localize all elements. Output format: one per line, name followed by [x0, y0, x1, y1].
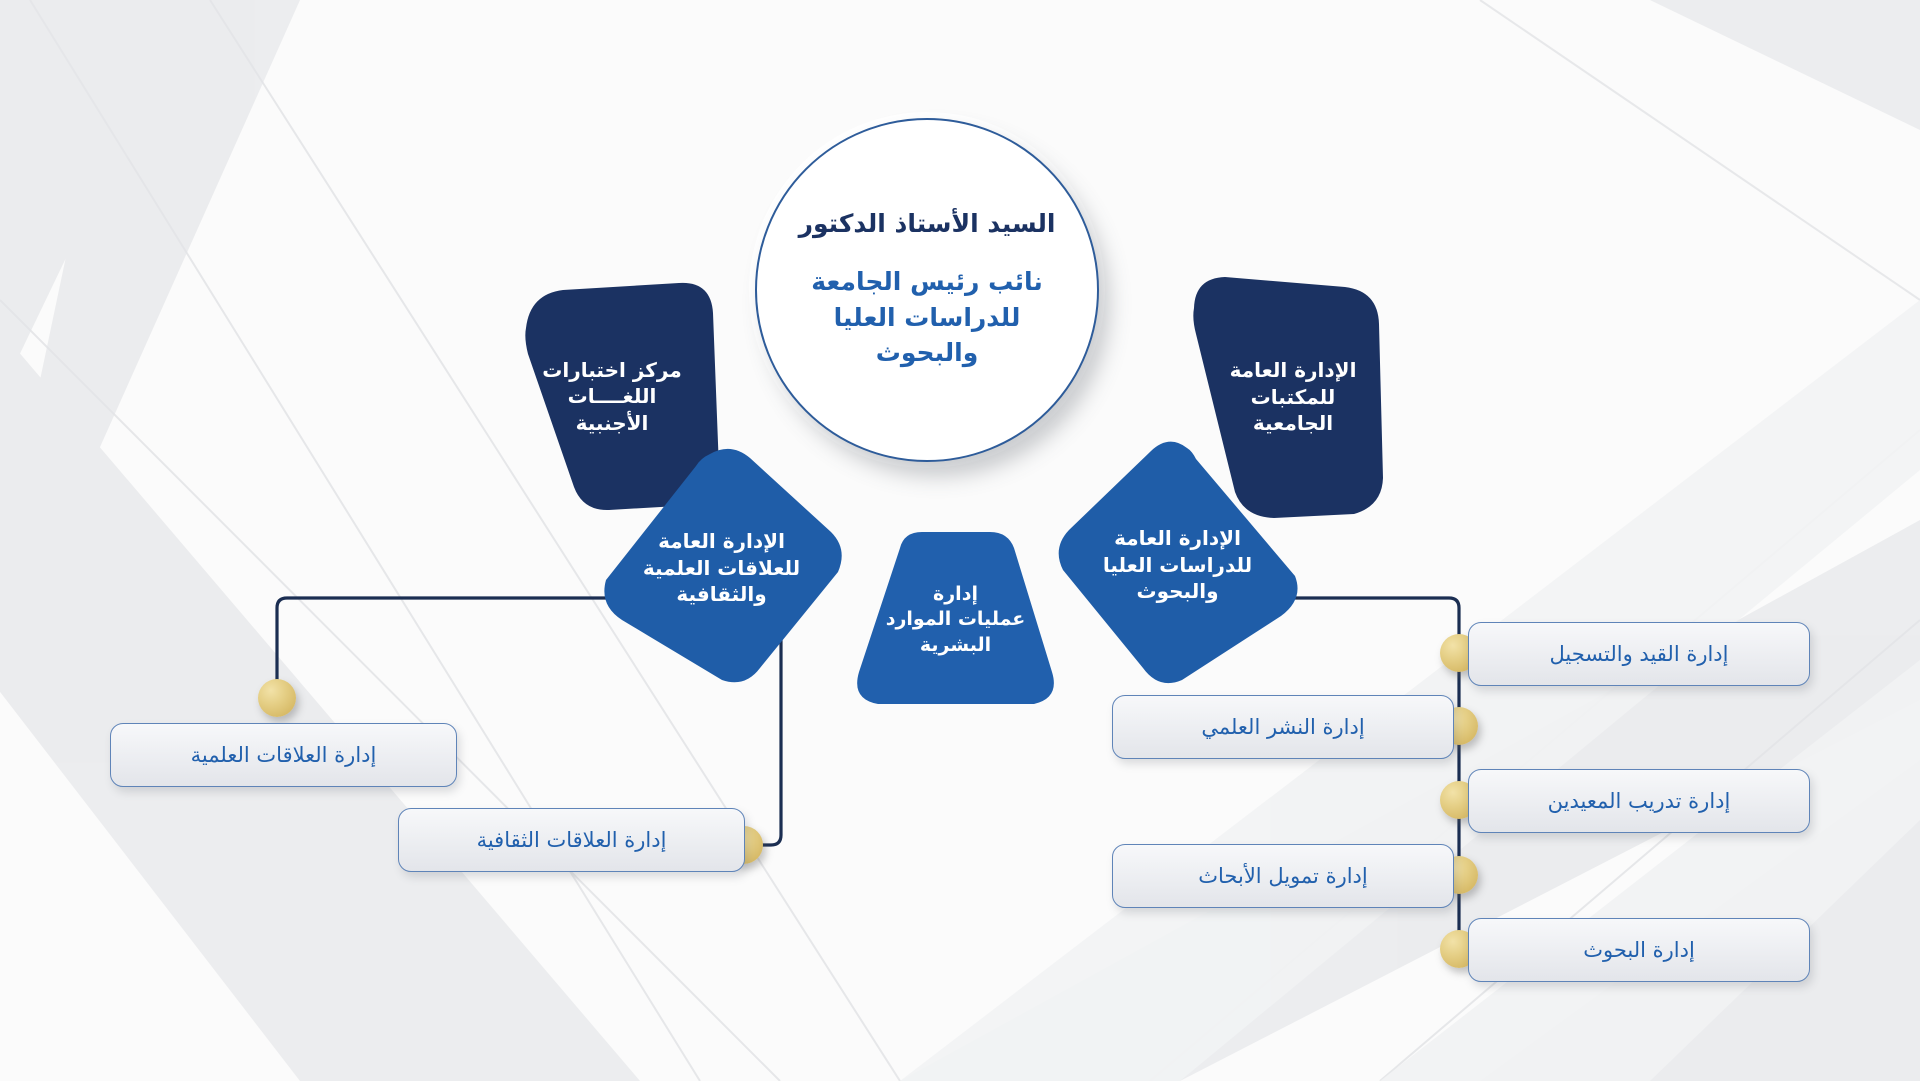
- list-item-teaching-assistants-training-dept[interactable]: إدارة تدريب المعيدين: [1468, 769, 1810, 833]
- list-item-scientific-relations-dept[interactable]: إدارة العلاقات العلمية: [110, 723, 457, 787]
- center-node-role: نائب رئيس الجامعة للدراسات العليا والبحو…: [811, 264, 1042, 371]
- branch-shape: [600, 448, 843, 688]
- branch-human-resources-operations-administration[interactable]: إدارة عمليات الموارد البشرية: [838, 530, 1073, 710]
- list-item-label: إدارة البحوث: [1583, 938, 1695, 962]
- list-item-enrollment-registration-dept[interactable]: إدارة القيد والتسجيل: [1468, 622, 1810, 686]
- center-node[interactable]: السيد الأستاذ الدكتور نائب رئيس الجامعة …: [755, 118, 1099, 462]
- list-item-label: إدارة العلاقات العلمية: [191, 743, 377, 767]
- list-item-label: إدارة تمويل الأبحاث: [1198, 864, 1367, 888]
- list-item-cultural-relations-dept[interactable]: إدارة العلاقات الثقافية: [398, 808, 745, 872]
- branch-shape: [838, 530, 1073, 710]
- branch-graduate-studies-research-administration[interactable]: الإدارة العامة للدراسات العليا والبحوث: [1055, 440, 1300, 690]
- center-node-title: السيد الأستاذ الدكتور: [799, 209, 1056, 238]
- list-item-research-dept[interactable]: إدارة البحوث: [1468, 918, 1810, 982]
- branch-shape: [1055, 440, 1300, 690]
- branch-scientific-cultural-relations-administration[interactable]: الإدارة العامة للعلاقات العلمية والثقافي…: [600, 448, 843, 688]
- list-item-research-funding-dept[interactable]: إدارة تمويل الأبحاث: [1112, 844, 1454, 908]
- connector-dot-left-1: [258, 679, 296, 717]
- list-item-label: إدارة تدريب المعيدين: [1548, 789, 1731, 813]
- list-item-label: إدارة النشر العلمي: [1201, 715, 1364, 739]
- list-item-label: إدارة القيد والتسجيل: [1550, 642, 1729, 666]
- list-item-label: إدارة العلاقات الثقافية: [477, 828, 667, 852]
- list-item-scientific-publishing-dept[interactable]: إدارة النشر العلمي: [1112, 695, 1454, 759]
- org-chart-canvas: مركز اختبارات اللغــــات الأجنبية الإدار…: [0, 0, 1920, 1081]
